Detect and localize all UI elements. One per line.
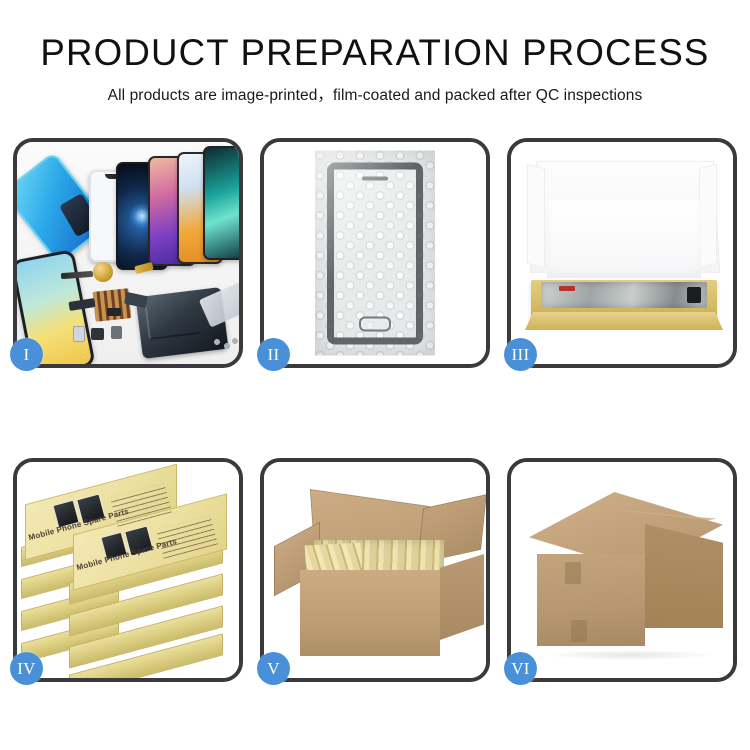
carton-tab-top-icon [565, 562, 581, 584]
step-6-image [511, 462, 733, 678]
phone-teal-icon [203, 146, 239, 260]
step-panel-4[interactable]: Mobile Phone Spare Parts Mobile Phone Sp… [13, 458, 243, 682]
bubble-wrap-icon [315, 151, 435, 356]
carton-shadow [545, 650, 715, 660]
step-5-image [264, 462, 486, 678]
foam-insert-icon [547, 200, 701, 278]
sealed-carton-side-icon [645, 524, 723, 628]
connector-strip-icon [61, 271, 93, 279]
page-title: PRODUCT PREPARATION PROCESS [4, 34, 747, 71]
step-badge-6: VI [504, 652, 537, 685]
sealed-carton-front-icon [537, 554, 645, 646]
step-badge-1: I [10, 338, 43, 371]
box-flap-right-icon [699, 164, 717, 268]
page-header: PRODUCT PREPARATION PROCESS All products… [0, 0, 750, 105]
step-panel-3[interactable]: III [507, 138, 737, 368]
small-part-d-icon [107, 308, 121, 316]
box-flap-left-icon [527, 164, 545, 268]
step-badge-2: II [257, 338, 290, 371]
screen-glass-icon [327, 162, 423, 344]
step-3-image [511, 142, 733, 364]
carton-side-icon [440, 554, 484, 640]
step-2-image [264, 142, 486, 364]
step-badge-3: III [504, 338, 537, 371]
small-part-b-icon [91, 328, 104, 340]
step-panel-5[interactable]: V [260, 458, 490, 682]
earpiece-slot-icon [362, 176, 388, 180]
small-part-c-icon [111, 326, 122, 339]
step-panel-6[interactable]: VI [507, 458, 737, 682]
process-steps-grid: I II III [13, 138, 737, 682]
step-badge-5: V [257, 652, 290, 685]
carton-body-icon [300, 570, 440, 656]
home-button-icon [359, 316, 391, 331]
step-panel-1[interactable]: I [13, 138, 243, 368]
carton-tab-bottom-icon [571, 620, 587, 642]
screws-icon [213, 338, 239, 350]
step-1-image [17, 142, 239, 364]
page-subtitle: All products are image-printed，film-coat… [0, 83, 750, 105]
step-panel-2[interactable]: II [260, 138, 490, 368]
box-stack-icon: Mobile Phone Spare Parts Mobile Phone Sp… [17, 462, 239, 678]
copper-coil-icon [93, 262, 113, 282]
step-4-image: Mobile Phone Spare Parts Mobile Phone Sp… [17, 462, 239, 678]
small-part-a-icon [73, 326, 85, 342]
packed-screen-icon [541, 282, 707, 308]
kraft-tray-front-icon [525, 312, 723, 330]
step-badge-4: IV [10, 652, 43, 685]
